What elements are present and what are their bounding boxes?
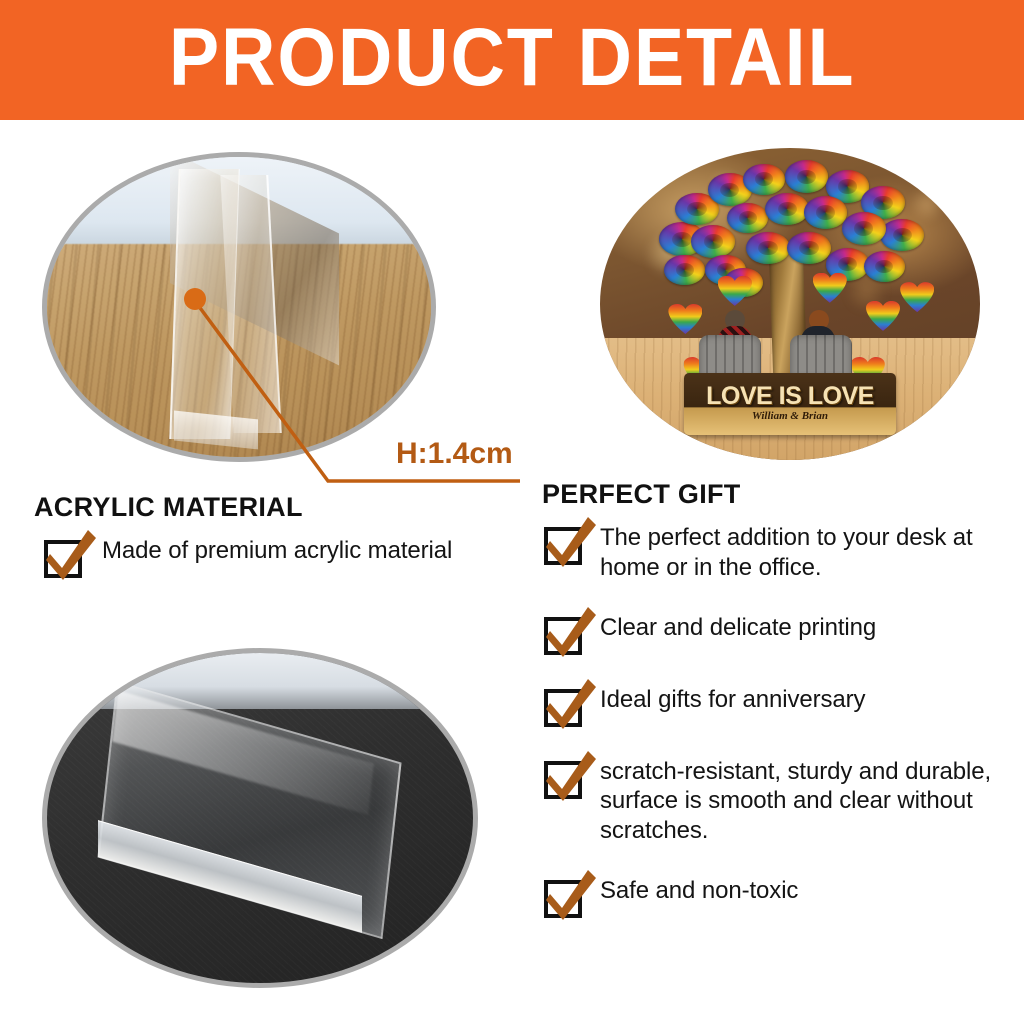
list-item: scratch-resistant, sturdy and durable, s… bbox=[544, 757, 1014, 846]
photo-product-preview: LOVE IS LOVE William & Brian bbox=[600, 148, 980, 460]
rose-icon bbox=[691, 225, 735, 257]
plaque-names-text: William & Brian bbox=[752, 410, 828, 422]
feature-list-perfect-gift: The perfect addition to your desk at hom… bbox=[544, 523, 1014, 948]
check-icon bbox=[544, 677, 598, 731]
checkbox-checked bbox=[544, 617, 582, 655]
rose-icon bbox=[785, 160, 829, 192]
list-item: Clear and delicate printing bbox=[544, 613, 1014, 655]
section-heading-perfect-gift: PERFECT GIFT bbox=[542, 479, 741, 510]
photo-backdrop bbox=[47, 653, 473, 709]
checkbox-checked bbox=[544, 689, 582, 727]
check-icon bbox=[544, 515, 598, 569]
page-title: PRODUCT DETAIL bbox=[169, 17, 856, 99]
list-item-label: Safe and non-toxic bbox=[600, 876, 798, 906]
checkbox-checked bbox=[44, 540, 82, 578]
rainbow-rose-canopy bbox=[653, 160, 927, 322]
check-icon bbox=[544, 749, 598, 803]
check-icon bbox=[44, 528, 98, 582]
dimension-height-label: H:1.4cm bbox=[396, 437, 513, 471]
feature-list-acrylic-material: Made of premium acrylic material bbox=[44, 536, 524, 578]
rose-icon bbox=[804, 196, 848, 228]
rose-icon bbox=[746, 232, 790, 264]
rose-icon bbox=[765, 193, 809, 225]
list-item: The perfect addition to your desk at hom… bbox=[544, 523, 1014, 583]
list-item-label: Made of premium acrylic material bbox=[102, 536, 452, 566]
list-item-label: Clear and delicate printing bbox=[600, 613, 876, 643]
check-icon bbox=[544, 605, 598, 659]
rose-icon bbox=[864, 251, 905, 282]
rose-icon bbox=[743, 164, 784, 195]
rose-icon bbox=[880, 219, 924, 251]
section-heading-acrylic-material: ACRYLIC MATERIAL bbox=[34, 492, 303, 523]
rose-icon bbox=[787, 232, 831, 264]
rose-icon bbox=[727, 203, 768, 234]
checkbox-checked bbox=[544, 527, 582, 565]
page-header-banner: PRODUCT DETAIL bbox=[0, 0, 1024, 120]
plaque-title-text: LOVE IS LOVE bbox=[706, 384, 874, 409]
list-item: Safe and non-toxic bbox=[544, 876, 1014, 918]
list-item-label: scratch-resistant, sturdy and durable, s… bbox=[600, 757, 1014, 846]
product-name-plaque: LOVE IS LOVE William & Brian bbox=[684, 373, 897, 435]
check-icon bbox=[544, 868, 598, 922]
rose-icon bbox=[842, 212, 886, 244]
dimension-marker-dot bbox=[184, 288, 206, 310]
photo-acrylic-block-on-slate bbox=[42, 648, 478, 988]
rose-icon bbox=[664, 255, 705, 286]
checkbox-checked bbox=[544, 761, 582, 799]
list-item: Ideal gifts for anniversary bbox=[544, 685, 1014, 727]
list-item-label: The perfect addition to your desk at hom… bbox=[600, 523, 1014, 583]
checkbox-checked bbox=[544, 880, 582, 918]
list-item-label: Ideal gifts for anniversary bbox=[600, 685, 865, 715]
list-item: Made of premium acrylic material bbox=[44, 536, 524, 578]
